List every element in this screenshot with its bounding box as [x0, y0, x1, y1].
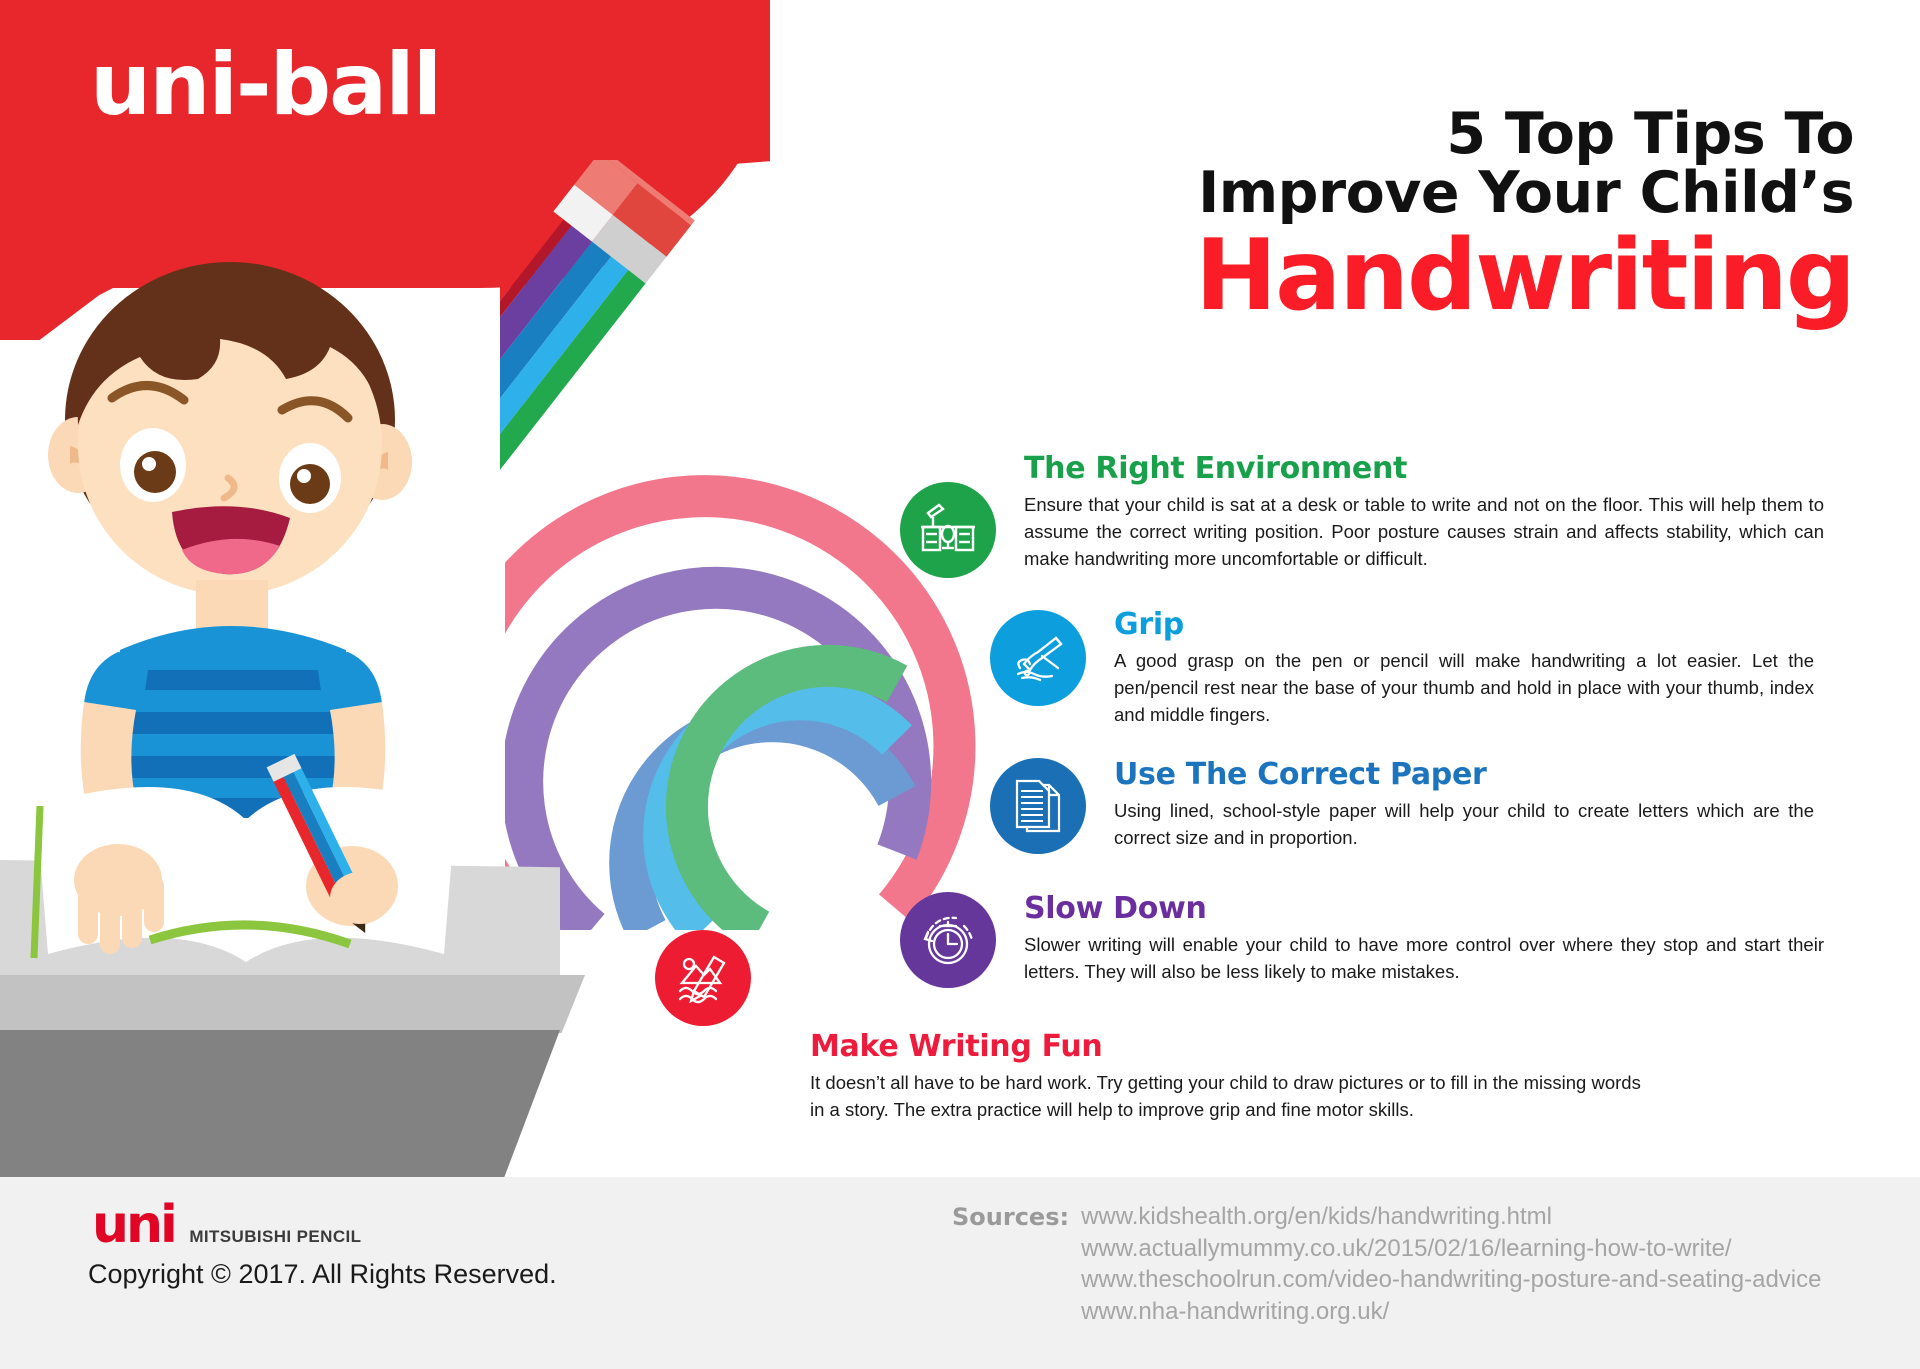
tip-3-title: Use The Correct Paper	[1114, 758, 1814, 791]
uni-ball-logo: uni-ball	[90, 42, 440, 128]
desk-lamp-icon	[900, 482, 996, 578]
tip-2-text: A good grasp on the pen or pencil will m…	[1114, 648, 1814, 728]
tip-5-title: Make Writing Fun	[810, 1030, 1650, 1063]
headline-line-3: Handwriting	[1014, 226, 1854, 328]
sources-block: Sources: www.kidshealth.org/en/kids/hand…	[952, 1201, 1821, 1328]
uni-logo-text: uni	[92, 1199, 175, 1251]
source-item[interactable]: www.nha-handwriting.org.uk/	[1081, 1296, 1821, 1328]
infographic-canvas: uni-ball 5 Top Tips To Improve Your Chil…	[0, 0, 1920, 1369]
mitsubishi-pencil-label: MITSUBISHI PENCIL	[189, 1227, 361, 1251]
headline-line-2: Improve Your Child’s	[1014, 164, 1854, 223]
desk-edge	[0, 975, 585, 1033]
rainbow-pencil-illustration	[500, 160, 820, 580]
uni-mitsubishi-logo: uni MITSUBISHI PENCIL	[92, 1199, 361, 1251]
copyright-text: Copyright © 2017. All Rights Reserved.	[88, 1259, 557, 1290]
source-item[interactable]: www.actuallymummy.co.uk/2015/02/16/learn…	[1081, 1233, 1821, 1265]
hand-writing-icon	[990, 610, 1086, 706]
tip-4-body: Slow Down Slower writing will enable you…	[1024, 892, 1824, 986]
source-item[interactable]: www.theschoolrun.com/video-handwriting-p…	[1081, 1264, 1821, 1296]
sources-label: Sources:	[952, 1201, 1069, 1328]
page-title: 5 Top Tips To Improve Your Child’s Handw…	[1014, 105, 1854, 327]
lined-paper-icon	[990, 758, 1086, 854]
source-item[interactable]: www.kidshealth.org/en/kids/handwriting.h…	[1081, 1201, 1821, 1233]
tip-3-body: Use The Correct Paper Using lined, schoo…	[1114, 758, 1814, 852]
tip-4-text: Slower writing will enable your child to…	[1024, 932, 1824, 986]
tip-2-body: Grip A good grasp on the pen or pencil w…	[1114, 608, 1814, 728]
tip-3-text: Using lined, school-style paper will hel…	[1114, 798, 1814, 852]
headline-line-1: 5 Top Tips To	[1014, 105, 1854, 164]
clock-icon	[900, 892, 996, 988]
tip-5-text: It doesn’t all have to be hard work. Try…	[810, 1070, 1650, 1124]
tip-2-title: Grip	[1114, 608, 1814, 641]
tip-1-body: The Right Environment Ensure that your c…	[1024, 452, 1824, 572]
tip-1-title: The Right Environment	[1024, 452, 1824, 485]
sources-list: www.kidshealth.org/en/kids/handwriting.h…	[1081, 1201, 1821, 1328]
desk-front	[0, 1030, 560, 1178]
footer: uni MITSUBISHI PENCIL Copyright © 2017. …	[0, 1177, 1920, 1369]
tip-4-title: Slow Down	[1024, 892, 1824, 925]
tip-1-text: Ensure that your child is sat at a desk …	[1024, 492, 1824, 572]
tip-5-body: Make Writing Fun It doesn’t all have to …	[810, 1030, 1650, 1124]
drawing-picture-icon	[655, 930, 751, 1026]
